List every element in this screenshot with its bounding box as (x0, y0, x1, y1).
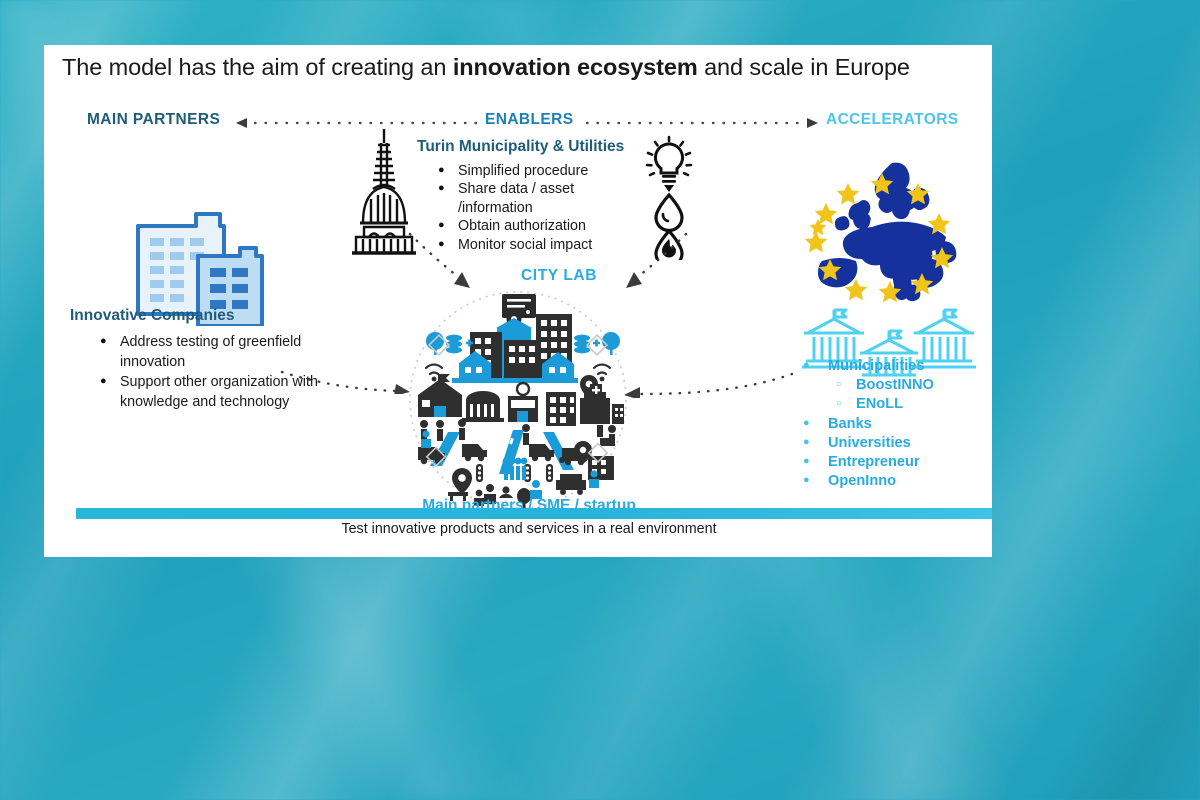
list-item: OpenInno (796, 472, 986, 491)
column-header-accelerators: ACCELERATORS (826, 111, 959, 129)
list-item: Support other organization with knowledg… (96, 373, 331, 412)
page-title-prefix: The model has the aim of creating an (62, 54, 453, 80)
slide-accent-bar (76, 508, 992, 519)
innovative-companies-bullets: Address testing of greenfield innovation… (96, 333, 331, 413)
arrow-accelerators-list-to-citylab (616, 370, 796, 398)
list-item: Simplified procedure (434, 162, 649, 180)
column-header-main-partners: MAIN PARTNERS (87, 111, 220, 129)
innovative-companies-heading: Innovative Companies (70, 307, 235, 325)
page-title-suffix: and scale in Europe (698, 54, 910, 80)
list-item: BoostINNO (828, 376, 986, 395)
citylab-caption: Test innovative products and services in… (274, 521, 784, 537)
list-item: Universities (796, 434, 986, 453)
water-drop-icon (656, 195, 682, 231)
citylab-label: CITY LAB (434, 267, 684, 285)
list-item: ENoLL (828, 395, 986, 414)
page-title: The model has the aim of creating an inn… (62, 54, 910, 81)
turin-municipality-heading: Turin Municipality & Utilities (417, 138, 624, 156)
list-item: Entrepreneur (796, 453, 986, 472)
gas-flame-icon (656, 231, 682, 260)
column-header-enablers: ENABLERS (485, 111, 573, 129)
list-item: Banks (796, 415, 986, 434)
turin-municipality-bullets: Simplified procedure Share data / asset … (434, 162, 649, 254)
accelerators-list: Municipalities BoostINNO ENoLL Banks Uni… (796, 357, 986, 491)
list-item: Share data / asset /information (434, 180, 649, 217)
mole-antonelliana-icon (347, 127, 421, 259)
accelerators-sublist: BoostINNO ENoLL (828, 376, 986, 414)
list-item: Address testing of greenfield innovation (96, 333, 331, 372)
arrow-enablers-to-accelerators (582, 118, 827, 128)
list-item: Municipalities BoostINNO ENoLL (796, 357, 986, 415)
citylab-illustration (404, 288, 632, 513)
utility-icons-group (641, 135, 697, 260)
lightbulb-icon (647, 137, 691, 192)
europe-map-icon (796, 155, 971, 305)
slide-canvas: The model has the aim of creating an inn… (44, 45, 992, 557)
list-item: Obtain authorization (434, 217, 649, 235)
list-item-label: Municipalities (828, 358, 925, 374)
list-item: Monitor social impact (434, 236, 649, 254)
page-title-emphasis: innovation ecosystem (453, 54, 698, 80)
